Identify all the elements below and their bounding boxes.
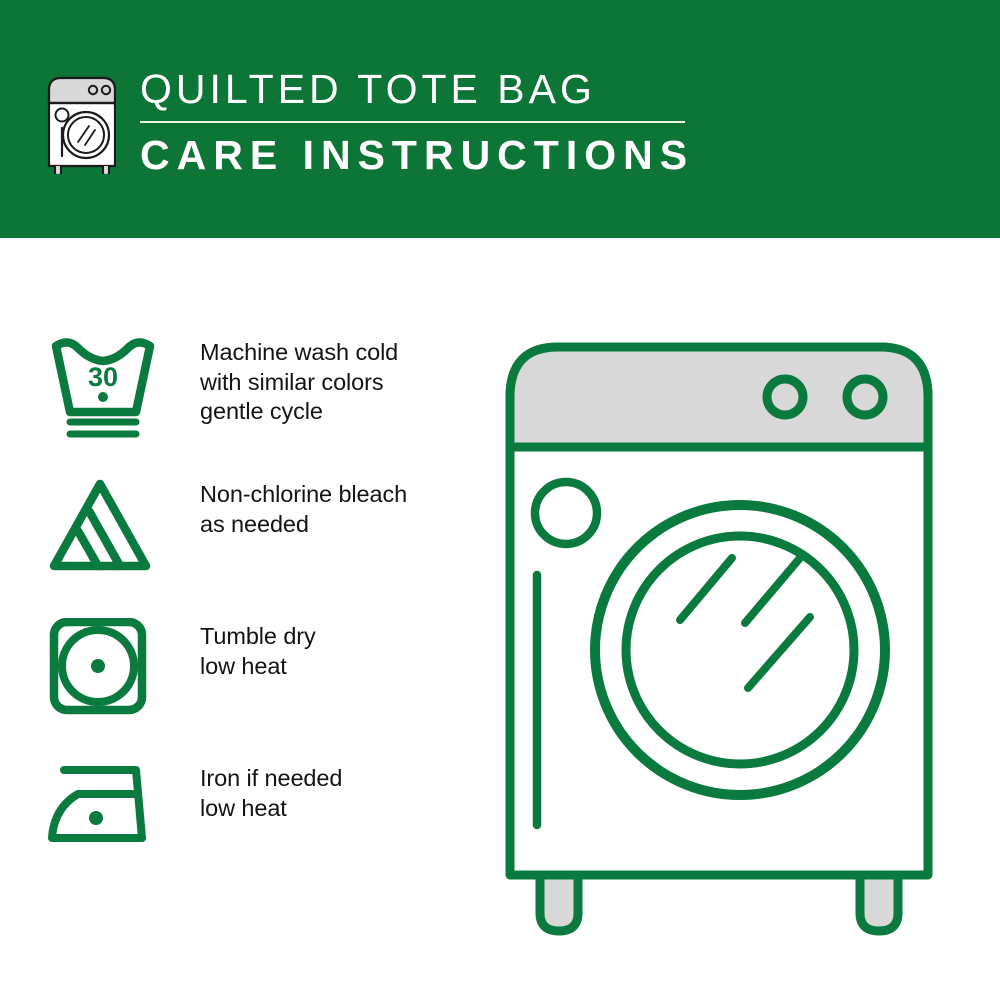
care-text-bleach: Non-chlorine bleach as needed (168, 472, 407, 539)
title-divider (140, 121, 685, 123)
care-instructions-page: QUILTED TOTE BAG CARE INSTRUCTIONS 30 (0, 0, 1000, 1000)
foot-left (540, 875, 578, 931)
foot-right (860, 875, 898, 931)
care-text-tumble-dry: Tumble dry low heat (168, 614, 316, 681)
page-title-care: CARE INSTRUCTIONS (140, 132, 740, 178)
washing-machine-icon (44, 70, 116, 174)
care-row-tumble-dry: Tumble dry low heat (48, 614, 468, 732)
header-title-block: QUILTED TOTE BAG CARE INSTRUCTIONS (140, 66, 740, 178)
washing-machine-illustration (480, 325, 980, 945)
page-title-product: QUILTED TOTE BAG (140, 66, 740, 112)
iron-icon (48, 756, 168, 848)
care-text-wash: Machine wash cold with similar colors ge… (168, 330, 398, 427)
care-instruction-list: 30 Machine wash cold with similar colors… (48, 330, 468, 898)
care-text-iron: Iron if needed low heat (168, 756, 342, 823)
wash-basin-icon: 30 (48, 330, 168, 440)
care-row-iron: Iron if needed low heat (48, 756, 468, 874)
care-row-wash: 30 Machine wash cold with similar colors… (48, 330, 468, 448)
control-panel (510, 347, 928, 447)
wash-temperature-label: 30 (88, 362, 118, 392)
bleach-triangle-icon (48, 472, 168, 576)
tumble-dry-icon (48, 614, 168, 718)
header-banner: QUILTED TOTE BAG CARE INSTRUCTIONS (0, 0, 1000, 238)
care-row-bleach: Non-chlorine bleach as needed (48, 472, 468, 590)
